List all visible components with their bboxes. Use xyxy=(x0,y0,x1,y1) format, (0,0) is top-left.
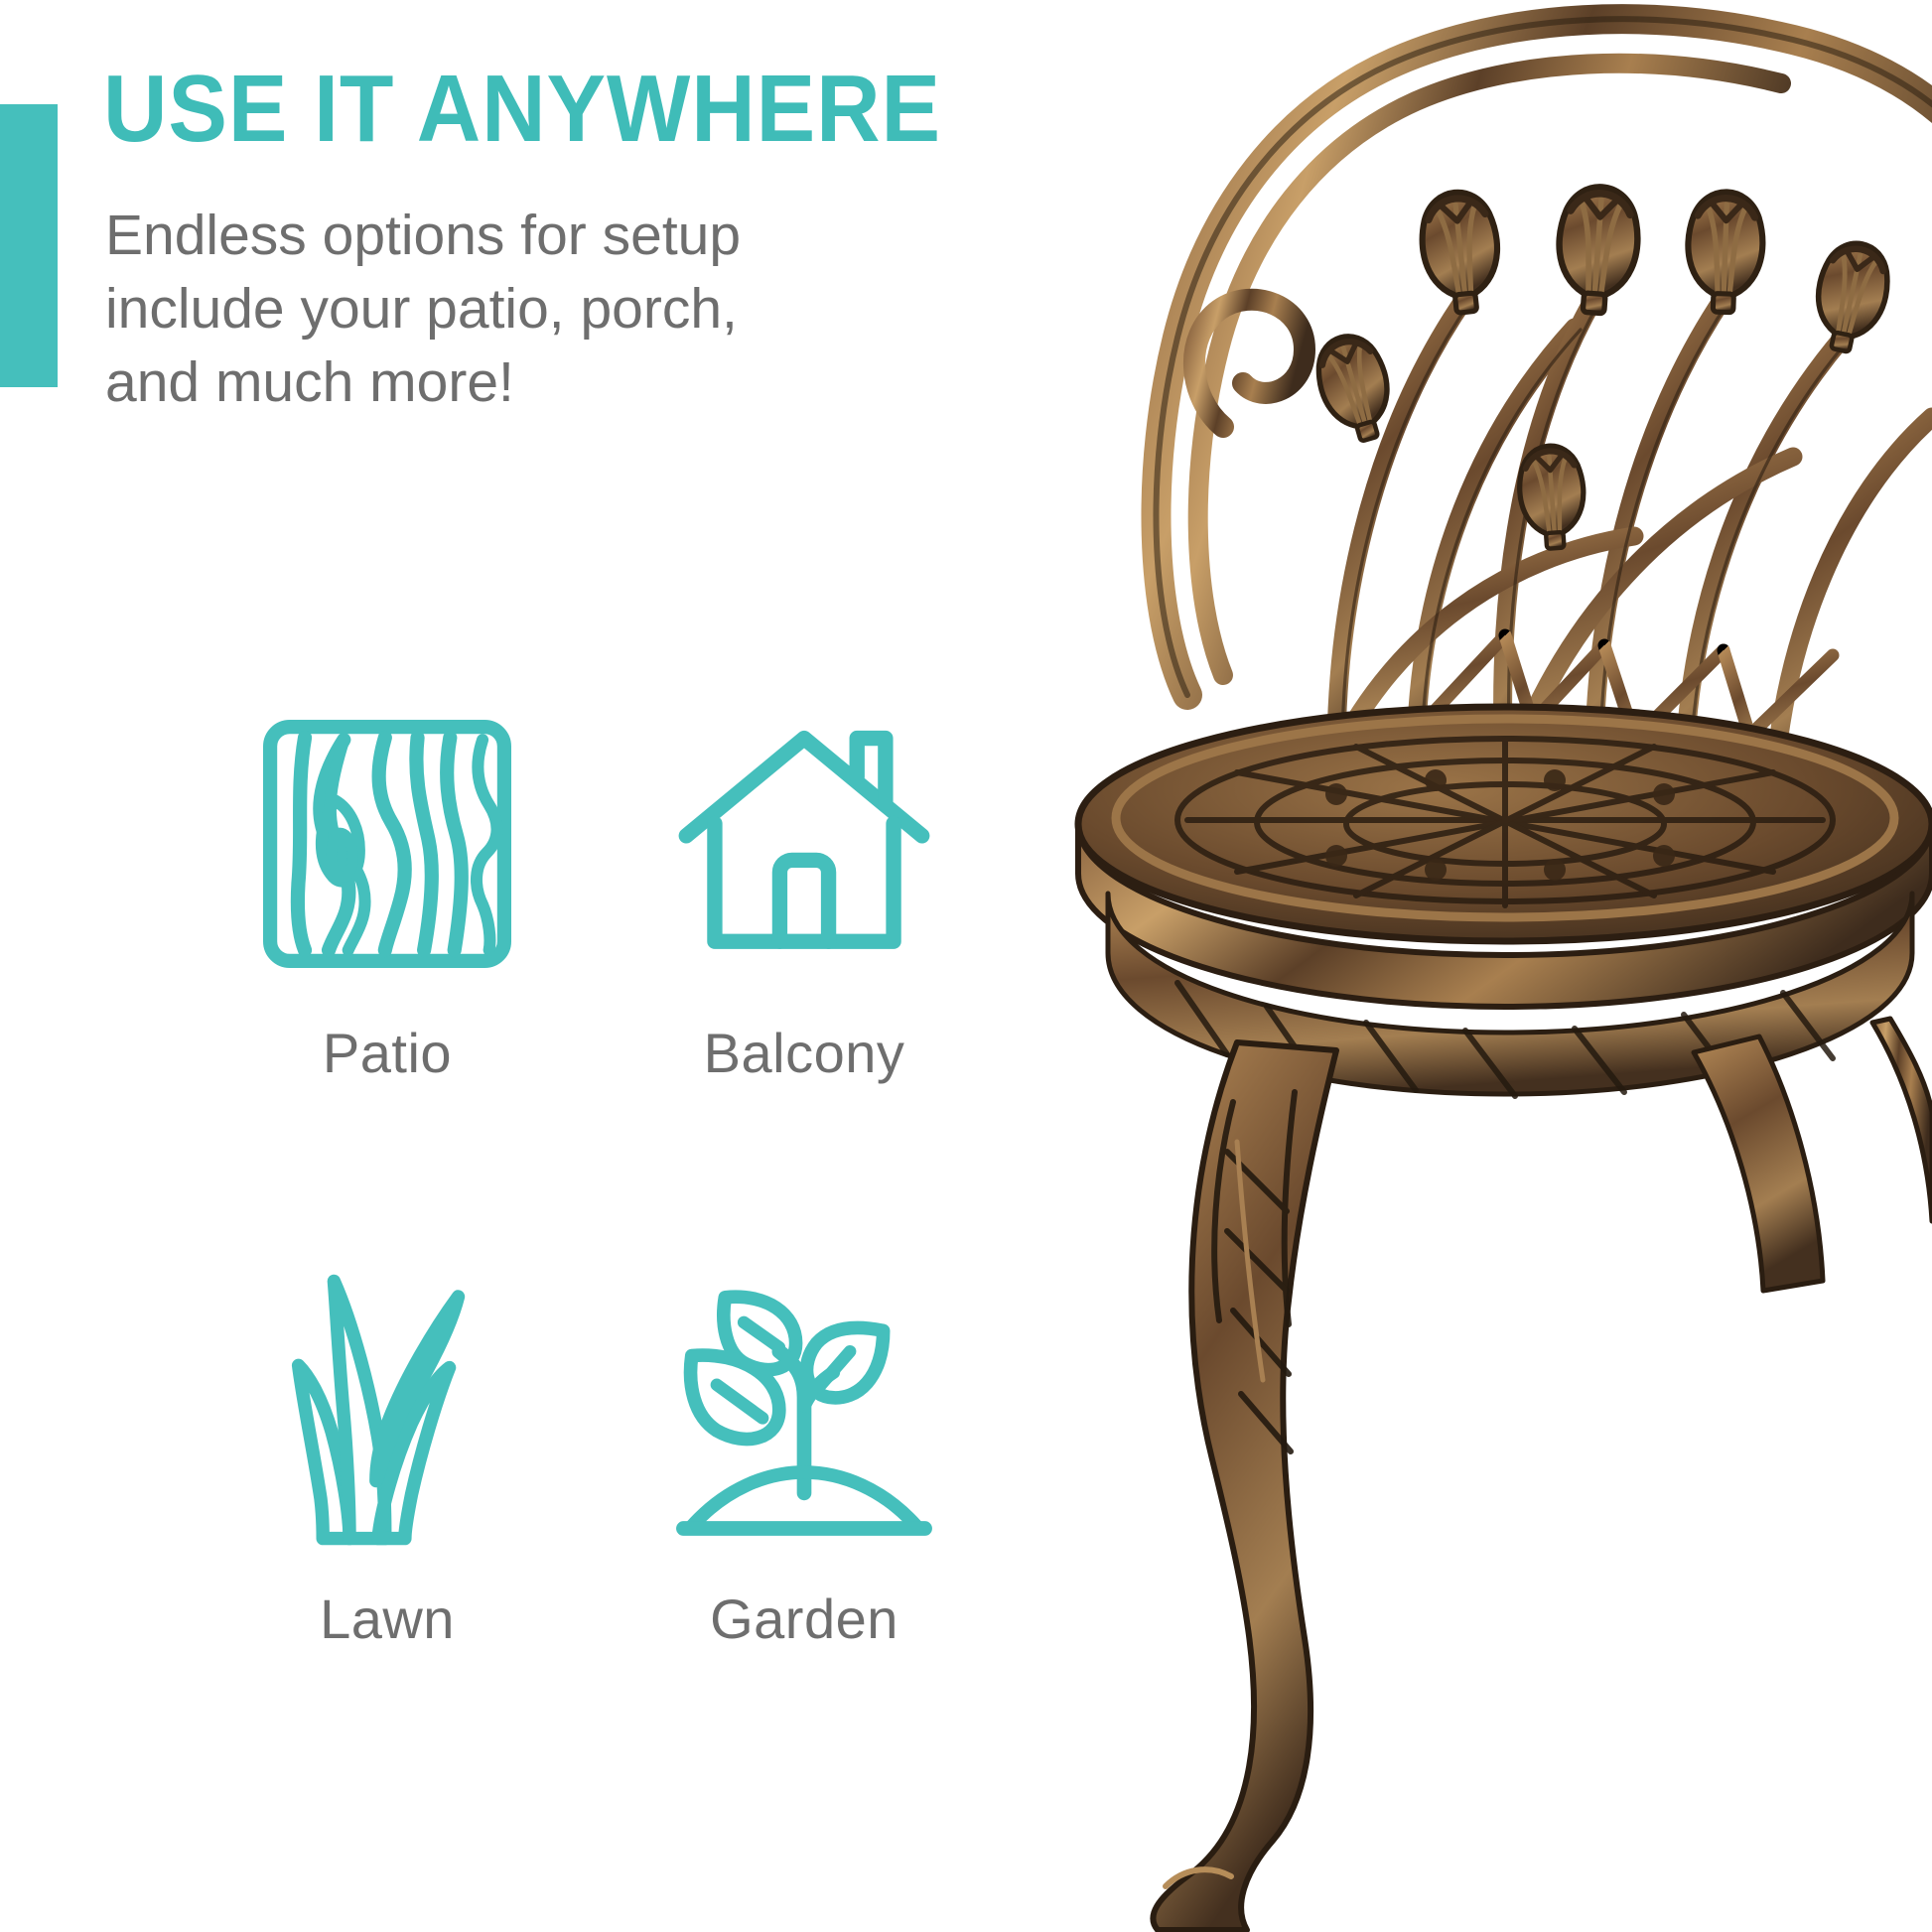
accent-bar xyxy=(0,104,58,387)
subtitle-line-3: and much more! xyxy=(105,345,820,419)
sprout-icon xyxy=(606,1261,1003,1559)
subtitle-line-2: include your patio, porch, xyxy=(105,272,820,345)
feature-item-balcony: Balcony xyxy=(606,695,1003,1085)
feature-label-lawn: Lawn xyxy=(189,1587,586,1651)
wood-grain-icon xyxy=(189,695,586,993)
feature-item-garden: Garden xyxy=(606,1261,1003,1651)
feature-item-lawn: Lawn xyxy=(189,1261,586,1651)
grass-icon xyxy=(189,1261,586,1559)
product-image-bistro-chair xyxy=(1038,0,1932,1932)
feature-label-patio: Patio xyxy=(189,1021,586,1085)
feature-label-balcony: Balcony xyxy=(606,1021,1003,1085)
page-subtitle: Endless options for setup include your p… xyxy=(105,199,820,419)
infographic-page: USE IT ANYWHERE Endless options for setu… xyxy=(0,0,1932,1932)
house-icon xyxy=(606,695,1003,993)
subtitle-line-1: Endless options for setup xyxy=(105,199,820,272)
page-title: USE IT ANYWHERE xyxy=(103,62,941,157)
feature-label-garden: Garden xyxy=(606,1587,1003,1651)
feature-item-patio: Patio xyxy=(189,695,586,1085)
